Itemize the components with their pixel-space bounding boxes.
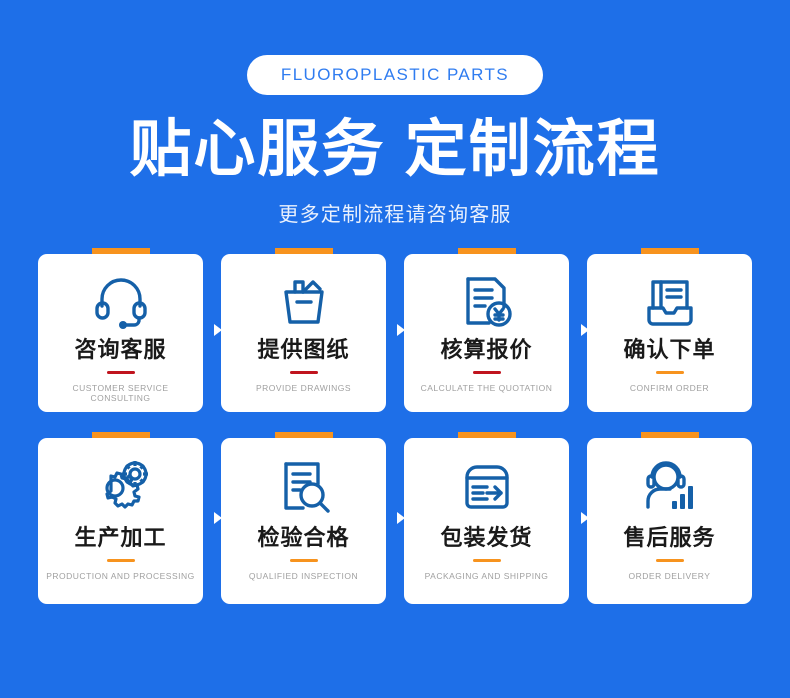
card-divider	[656, 371, 684, 374]
card-title: 售后服务	[623, 526, 715, 550]
process-step-card[interactable]: 核算报价 CALCULATE THE QUOTATION	[404, 248, 569, 412]
drawing-folder-icon	[275, 270, 333, 332]
card-divider	[107, 371, 135, 374]
card-divider	[290, 371, 318, 374]
headset-icon	[91, 270, 151, 332]
header-badge: FLUOROPLASTIC PARTS	[247, 55, 543, 95]
page-subtitle: 更多定制流程请咨询客服	[0, 198, 790, 227]
card-caption: PRODUCTION AND PROCESSING	[40, 571, 201, 581]
card-divider	[107, 559, 135, 562]
card-divider	[290, 559, 318, 562]
card-divider	[656, 559, 684, 562]
card-title: 核算报价	[440, 338, 532, 362]
step-arrow-icon	[214, 512, 222, 524]
card-title: 咨询客服	[74, 338, 166, 362]
card-divider	[473, 371, 501, 374]
page-header: FLUOROPLASTIC PARTS 贴心服务 定制流程 更多定制流程请咨询客…	[0, 0, 790, 227]
inspection-magnifier-icon	[276, 454, 332, 520]
process-step-card[interactable]: 检验合格 QUALIFIED INSPECTION	[221, 432, 386, 604]
shipping-box-icon	[457, 454, 517, 520]
process-step-card[interactable]: 咨询客服 CUSTOMER SERVICE CONSULTING	[38, 248, 203, 412]
card-caption: CUSTOMER SERVICE CONSULTING	[38, 383, 203, 403]
process-row-1: 咨询客服 CUSTOMER SERVICE CONSULTING	[38, 248, 752, 412]
card-caption: PROVIDE DRAWINGS	[250, 383, 357, 393]
step-arrow-icon	[397, 324, 405, 336]
process-step-card[interactable]: 确认下单 CONFIRM ORDER	[587, 248, 752, 412]
process-row-2: 生产加工 PRODUCTION AND PROCESSING	[38, 432, 752, 604]
order-tray-icon	[641, 270, 699, 332]
gears-icon	[90, 454, 152, 520]
step-arrow-icon	[397, 512, 405, 524]
card-caption: CALCULATE THE QUOTATION	[415, 383, 559, 393]
quotation-document-icon	[459, 270, 515, 332]
step-arrow-icon	[581, 512, 589, 524]
card-title: 生产加工	[74, 526, 166, 550]
process-step-grid: 咨询客服 CUSTOMER SERVICE CONSULTING	[38, 248, 752, 624]
step-arrow-icon	[581, 324, 589, 336]
card-caption: PACKAGING AND SHIPPING	[419, 571, 555, 581]
card-title: 提供图纸	[257, 338, 349, 362]
process-step-card[interactable]: 提供图纸 PROVIDE DRAWINGS	[221, 248, 386, 412]
process-step-card[interactable]: 售后服务 ORDER DELIVERY	[587, 432, 752, 604]
card-caption: CONFIRM ORDER	[624, 383, 715, 393]
process-step-card[interactable]: 包装发货 PACKAGING AND SHIPPING	[404, 432, 569, 604]
page-title: 贴心服务 定制流程	[0, 117, 790, 184]
process-step-card[interactable]: 生产加工 PRODUCTION AND PROCESSING	[38, 432, 203, 604]
card-title: 包装发货	[440, 526, 532, 550]
step-arrow-icon	[214, 324, 222, 336]
card-caption: ORDER DELIVERY	[623, 571, 717, 581]
card-caption: QUALIFIED INSPECTION	[243, 571, 364, 581]
card-divider	[473, 559, 501, 562]
support-agent-chart-icon	[640, 454, 700, 520]
card-title: 确认下单	[623, 338, 715, 362]
card-title: 检验合格	[257, 526, 349, 550]
